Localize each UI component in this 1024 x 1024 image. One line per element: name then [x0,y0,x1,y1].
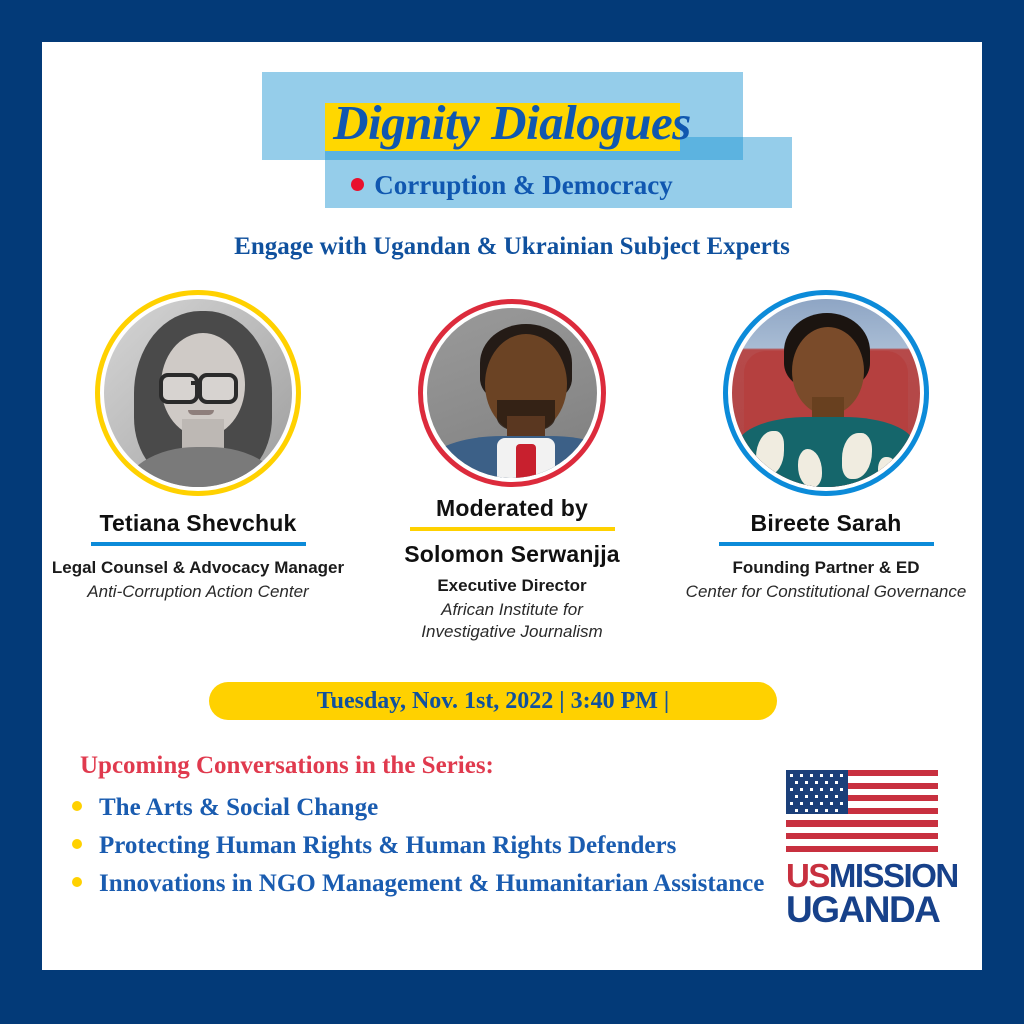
poster-root: Dignity Dialogues Corruption & Democracy… [0,0,1024,1024]
speaker-role-bireete: Founding Partner & ED [661,557,982,578]
speaker-role-solomon: Executive Director [362,575,662,596]
subtitle-row: Corruption & Democracy [42,170,982,201]
logo-uganda-text: UGANDA [786,892,952,928]
bullet-dot-icon [351,178,364,191]
speaker-org-solomon-line1: African Institute for [362,599,662,621]
speakers-section: Tetiana Shevchuk Legal Counsel & Advocac… [42,290,982,690]
speaker-name-solomon: Solomon Serwanjja [362,541,662,568]
speaker-rule-tetiana [91,542,306,546]
page-subtitle: Corruption & Democracy [374,170,672,201]
page-title: Dignity Dialogues [42,94,982,151]
bullet-dot-icon [72,839,82,849]
upcoming-item-label: The Arts & Social Change [99,794,378,822]
title-banner: Dignity Dialogues Corruption & Democracy [42,42,982,242]
speaker-org-solomon-line2: Investigative Journalism [362,621,662,643]
moderator-eyebrow: Moderated by [362,495,662,522]
bullet-dot-icon [72,801,82,811]
speaker-name-bireete: Bireete Sarah [676,510,976,537]
upcoming-heading: Upcoming Conversations in the Series: [80,752,494,780]
avatar-bireete [723,290,929,496]
speaker-name-tetiana: Tetiana Shevchuk [48,510,348,537]
poster-card: Dignity Dialogues Corruption & Democracy… [42,42,982,970]
us-mission-uganda-logo: USMISSION UGANDA [786,770,952,942]
event-datetime-badge: Tuesday, Nov. 1st, 2022 | 3:40 PM | [209,682,777,720]
speaker-org-bireete: Center for Constitutional Governance [661,581,982,603]
us-flag-icon [786,770,938,852]
speaker-card-tetiana: Tetiana Shevchuk Legal Counsel & Advocac… [48,290,348,603]
avatar-tetiana [95,290,301,496]
speaker-org-tetiana: Anti-Corruption Action Center [42,581,363,603]
list-item: Innovations in NGO Management & Humanita… [72,870,792,898]
speaker-rule-bireete [719,542,934,546]
upcoming-item-label: Innovations in NGO Management & Humanita… [99,870,764,898]
list-item: The Arts & Social Change [72,794,792,822]
upcoming-item-label: Protecting Human Rights & Human Rights D… [99,832,676,860]
speaker-card-bireete: Bireete Sarah Founding Partner & ED Cent… [676,290,976,603]
list-item: Protecting Human Rights & Human Rights D… [72,832,792,860]
speaker-role-tetiana: Legal Counsel & Advocacy Manager [42,557,363,578]
tagline: Engage with Ugandan & Ukrainian Subject … [42,233,982,261]
upcoming-list: The Arts & Social Change Protecting Huma… [72,794,792,908]
speaker-card-solomon: Moderated by Solomon Serwanjja Executive… [362,290,662,643]
avatar-solomon [418,299,606,487]
flag-canton [786,770,848,814]
logo-wordmark: USMISSION UGANDA [786,860,952,927]
moderator-rule [410,527,615,531]
bullet-dot-icon [72,877,82,887]
